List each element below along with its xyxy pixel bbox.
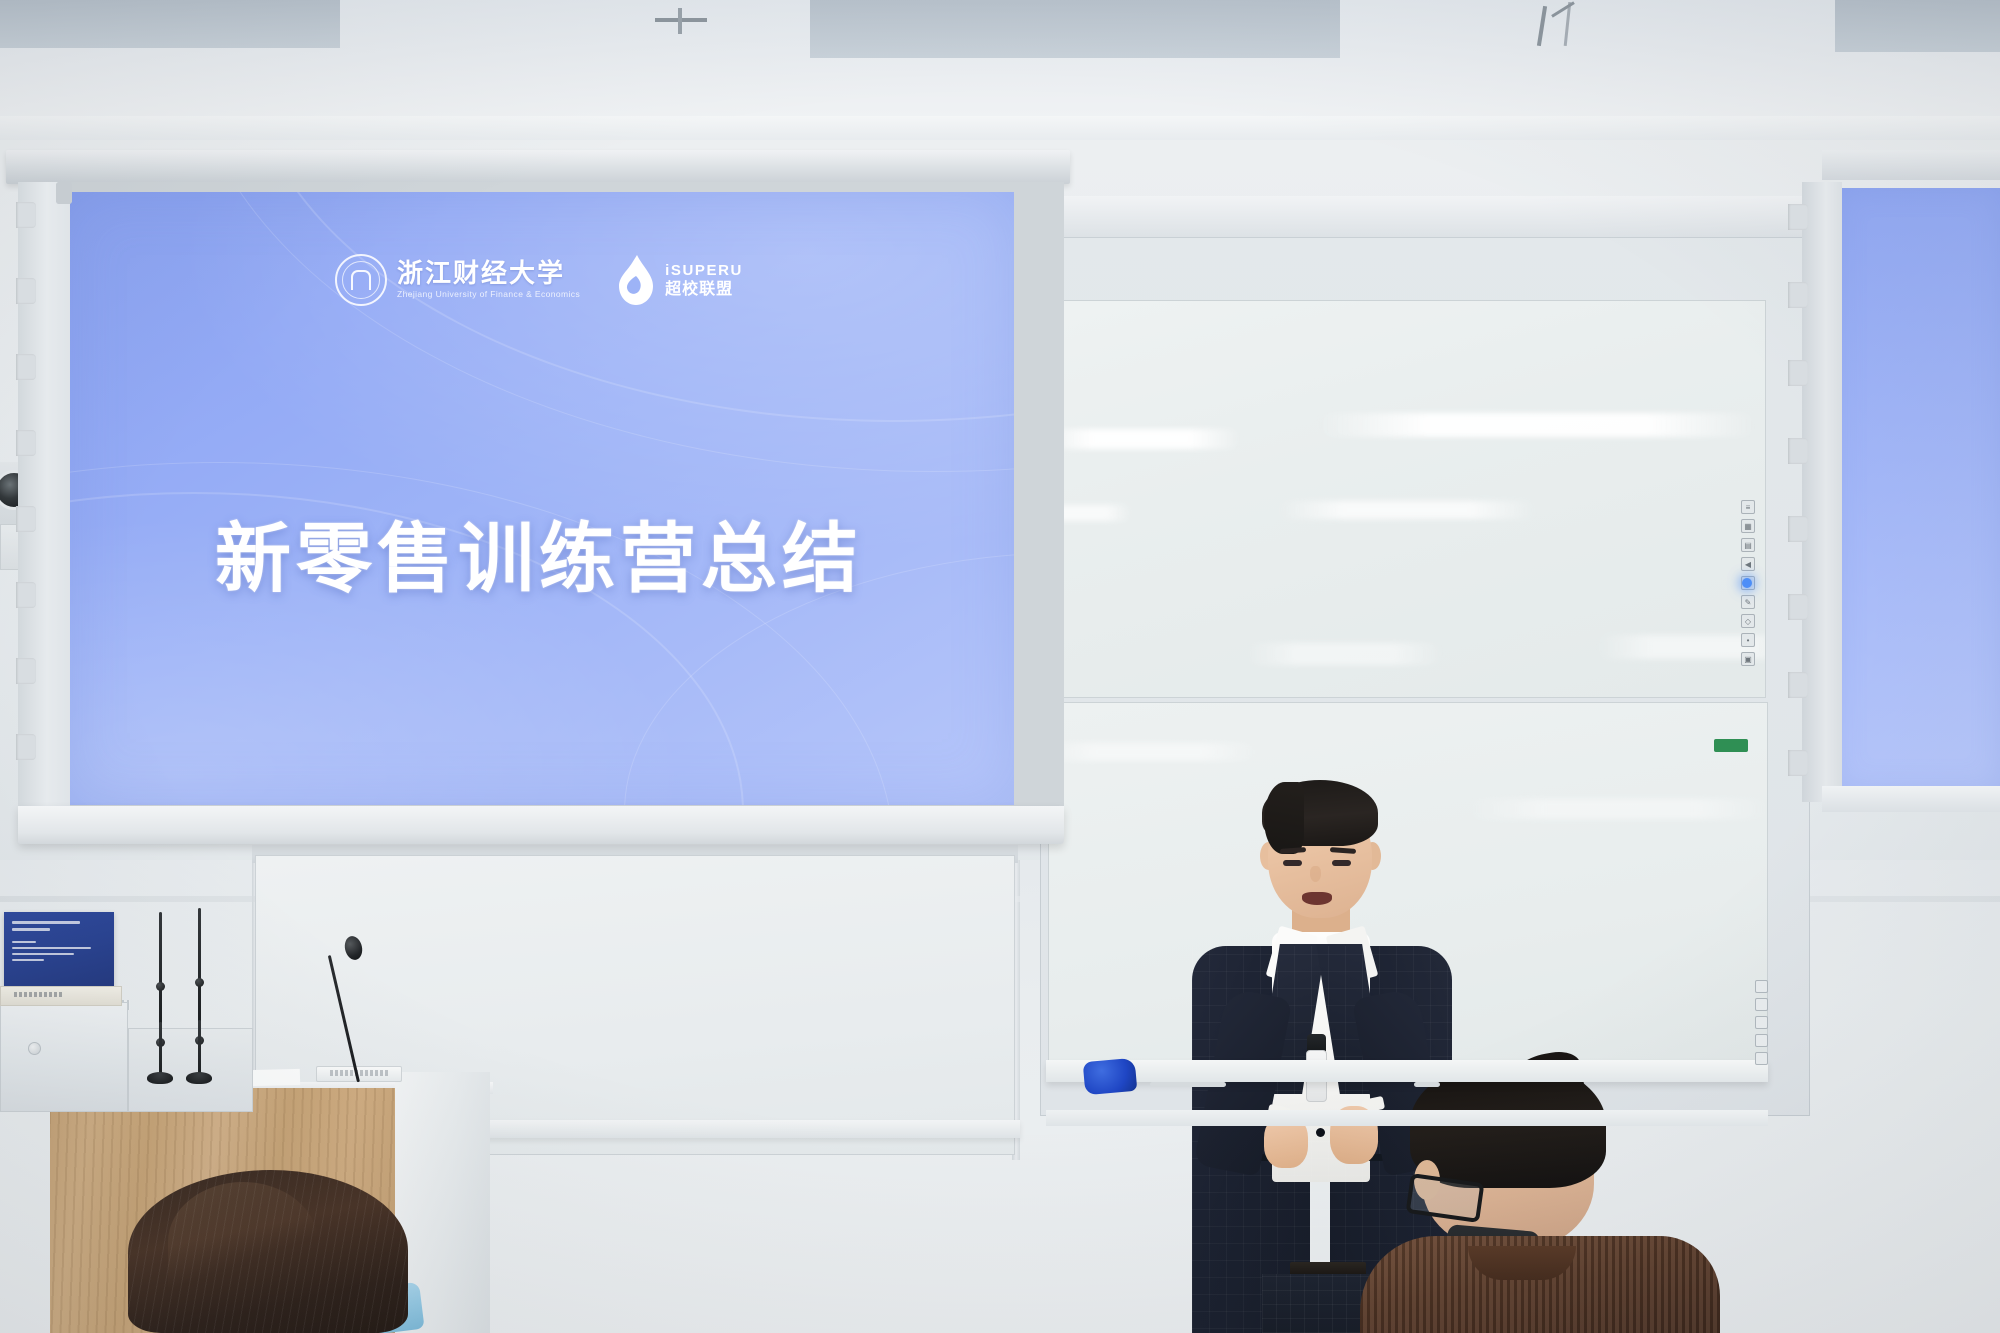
smartboard-upper-panel[interactable] [1050, 300, 1766, 698]
grid-icon[interactable]: ▦ [1741, 519, 1755, 533]
microphone-base-label [330, 1070, 388, 1076]
ceiling-hanger-icon [1551, 1, 1575, 17]
presenter-eye [1332, 860, 1351, 866]
smartboard-lower-control-strip[interactable] [1752, 980, 1770, 1110]
zufe-name-en: Zhejiang University of Finance & Economi… [397, 290, 580, 299]
presenter-eye [1283, 860, 1302, 866]
antenna-base [147, 1072, 173, 1084]
woman-hair-strands [128, 1170, 408, 1333]
isuperu-name-en: iSUPERU [665, 263, 743, 278]
light-reflection [1050, 429, 1241, 449]
light-reflection [1469, 799, 1768, 819]
sign-stand-label [14, 992, 62, 997]
presenter-mouth [1302, 892, 1332, 905]
slide-title: 新零售训练营总结 [64, 497, 1014, 607]
presentation-slide: 浙江财经大学 Zhejiang University of Finance & … [64, 192, 1014, 805]
presenter-hair-fringe [1264, 782, 1304, 854]
projection-screen-bottom-bar[interactable] [18, 806, 1064, 844]
ceiling-beam [0, 116, 2000, 142]
page-icon[interactable]: ▤ [1741, 538, 1755, 552]
projection-screen-left-edge [18, 182, 70, 822]
menu-icon[interactable] [1755, 980, 1768, 993]
wireless-antenna [198, 908, 201, 1024]
smartboard-top-rail [1040, 196, 1810, 238]
presenter-jacket-button [1316, 1128, 1325, 1137]
lecture-hall-scene: ≡ ▦ ▤ ◀ ▶ ✎ ◇ • ▣ [0, 0, 2000, 1333]
dot-icon[interactable]: • [1741, 633, 1755, 647]
rack-knob-icon[interactable] [28, 1042, 41, 1055]
isuperu-name-cn: 超校联盟 [665, 281, 743, 297]
eraser-icon[interactable]: ◇ [1741, 614, 1755, 628]
smartboard-label-sticker [1714, 739, 1748, 752]
ceiling-panel [810, 0, 1340, 58]
av-equipment-rack[interactable] [0, 1002, 128, 1112]
prev-arrow-icon[interactable]: ◀ [1741, 557, 1755, 571]
pen-icon[interactable] [1755, 1016, 1768, 1029]
isuperu-logo: iSUPERU 超校联盟 [616, 254, 743, 306]
wireless-antenna [159, 1022, 162, 1078]
smartboard-power-led [1742, 578, 1752, 588]
antenna-base [186, 1072, 212, 1084]
ceiling-hanger-icon [1537, 6, 1547, 46]
pen-icon[interactable]: ✎ [1741, 595, 1755, 609]
presenter-nose [1310, 866, 1321, 882]
secondary-screen-bottom-bar [1822, 786, 2000, 812]
wireless-antenna [198, 1020, 201, 1078]
grid-icon[interactable] [1755, 998, 1768, 1011]
smartboard-control-strip[interactable]: ≡ ▦ ▤ ◀ ▶ ✎ ◇ • ▣ [1738, 500, 1758, 676]
slide-logo-row: 浙江财经大学 Zhejiang University of Finance & … [64, 254, 1014, 306]
ceiling-panel [1835, 0, 2000, 52]
university-seal-icon [335, 254, 387, 306]
blue-cloth [1083, 1058, 1138, 1095]
information-sign [4, 912, 114, 990]
eraser-icon[interactable] [1755, 1034, 1768, 1047]
light-reflection [1279, 501, 1535, 519]
slide-decoration-wave [184, 192, 1014, 472]
smartboard-ledge [1046, 1060, 1768, 1082]
light-reflection [1048, 743, 1259, 761]
antenna-joint-icon [195, 978, 204, 987]
dot-icon[interactable] [1755, 1052, 1768, 1065]
projection-screen-housing [6, 150, 1070, 184]
light-reflection [1247, 643, 1443, 665]
ceiling [0, 0, 2000, 148]
audience-member-foreground [128, 1170, 448, 1333]
save-icon[interactable]: ▣ [1741, 652, 1755, 666]
av-equipment-rack-secondary[interactable] [128, 1028, 253, 1112]
smartboard-lower-ledge [1046, 1110, 1768, 1126]
zufe-name-cn: 浙江财经大学 [397, 261, 580, 287]
secondary-screen-slide [1838, 188, 2000, 788]
marker-pen[interactable] [1414, 1082, 1440, 1087]
ceiling-sprinkler-icon [678, 8, 682, 34]
light-reflection [1317, 413, 1757, 437]
flame-droplet-icon [616, 254, 656, 306]
audience-collar [1468, 1246, 1576, 1280]
secondary-screen-housing [1822, 150, 2000, 180]
audience-member-seated [1360, 1060, 1720, 1333]
zufe-logo: 浙江财经大学 Zhejiang University of Finance & … [335, 254, 580, 306]
ceiling-panel [0, 0, 340, 48]
menu-icon[interactable]: ≡ [1741, 500, 1755, 514]
marker-pen[interactable] [1150, 1082, 1226, 1087]
antenna-joint-icon [156, 982, 165, 991]
wireless-antenna [159, 912, 162, 1024]
secondary-screen-edge [1802, 182, 1842, 802]
